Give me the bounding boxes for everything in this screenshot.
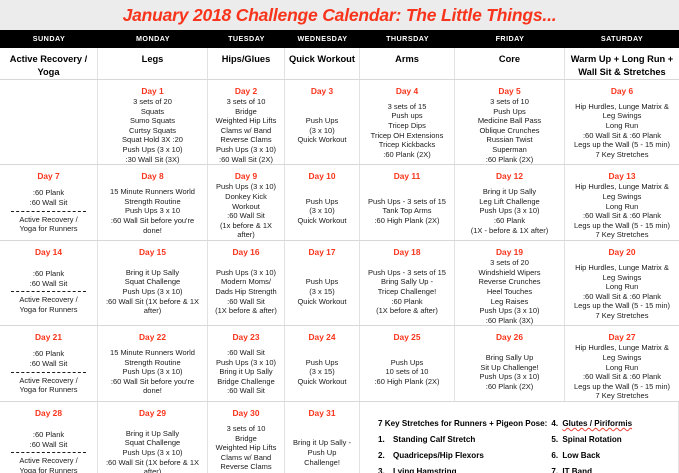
stretch-list-item: 5.Spinal Rotation	[551, 432, 678, 448]
week-row: Day 28:60 Plank:60 Wall SitActive Recove…	[0, 401, 679, 473]
detail-line: :60 Plank	[3, 349, 94, 359]
week-row: Day 21:60 Plank:60 Wall SitActive Recove…	[0, 325, 679, 401]
day-cell-day-22[interactable]: Day 2215 Minute Runners WorldStrength Ro…	[98, 326, 208, 401]
weekday-header-friday: FRIDAY	[455, 30, 565, 47]
detail-line: Push Ups	[288, 116, 356, 126]
focus-cell-tuesday: Hips/Glues	[208, 48, 285, 79]
detail-line: Push Ups (3 x 10)	[101, 145, 204, 155]
detail-line: Curtsy Squats	[101, 126, 204, 136]
day-cell-day-31[interactable]: Day 31Bring it Up Sally -Push UpChalleng…	[285, 402, 360, 473]
detail-line: Bring it Up Sally	[458, 187, 561, 197]
detail-line: Squats	[101, 107, 204, 117]
stretch-list-item: 3.Lying Hamstring	[378, 464, 547, 473]
day-cell-day-25[interactable]: Day 25Push Ups10 sets of 10:60 High Plan…	[360, 326, 455, 401]
detail-line: after)	[211, 230, 281, 240]
detail-line: Hip Hurdles, Lunge Matrix &	[568, 263, 676, 273]
day-number-label: Day 19	[496, 243, 523, 258]
day-number-label: Day 1	[141, 82, 163, 97]
weekday-header-thursday: THURSDAY	[360, 30, 455, 47]
calendar-page: January 2018 Challenge Calendar: The Lit…	[0, 0, 679, 473]
detail-line: Clams w/ Band	[211, 453, 281, 463]
detail-line: (3 x 15)	[288, 367, 356, 377]
detail-line: Squat Hold 3X :20	[101, 135, 204, 145]
key-stretches-panel: 7 Key Stretches for Runners + Pigeon Pos…	[360, 402, 679, 473]
day-detail-text: :60 Plank:60 Wall Sit	[3, 188, 94, 207]
day-number-label: Day 12	[496, 167, 523, 182]
day-detail-group: :60 Plank:60 Wall SitActive Recovery /Yo…	[3, 349, 94, 394]
day-number-label: Day 3	[311, 82, 333, 97]
dashed-divider	[11, 372, 86, 373]
detail-line: (1X before & after)	[211, 306, 281, 316]
day-cell-day-1[interactable]: Day 13 sets of 20SquatsSumo SquatsCurtsy…	[98, 80, 208, 164]
detail-line: Push Ups (3 x 10)	[101, 287, 204, 297]
focus-label: Quick Workout	[289, 50, 355, 66]
detail-line: 7 Key Stretches	[568, 150, 676, 160]
detail-line: Bring it Up Sally -	[288, 438, 356, 448]
day-cell-day-3[interactable]: Day 3Push Ups(3 x 10)Quick Workout	[285, 80, 360, 164]
stretch-item-number: 2.	[378, 448, 393, 464]
stretches-heading: 7 Key Stretches for Runners + Pigeon Pos…	[378, 416, 547, 432]
day-detail-text: Bring it Up SallySquat ChallengePush Ups…	[101, 429, 204, 473]
day-cell-day-7[interactable]: Day 7:60 Plank:60 Wall SitActive Recover…	[0, 165, 98, 240]
focus-label: Legs	[142, 50, 164, 66]
focus-label: Active Recovery / Yoga	[3, 50, 94, 78]
detail-line: :60 Plank (2X)	[363, 150, 451, 160]
stretch-item-label: IT Band	[562, 464, 592, 473]
focus-label: Core	[499, 50, 520, 66]
day-detail-text: Push Ups(3 x 10)Quick Workout	[288, 116, 356, 145]
detail-line: Russian Twist	[458, 135, 561, 145]
detail-line: Legs up the Wall (5 - 15 min)	[568, 221, 676, 231]
detail-line: Tricep OH Extensions	[363, 131, 451, 141]
detail-line: Push Ups (3 x 10)	[101, 448, 204, 458]
detail-line: Tricep Challenge!	[363, 287, 451, 297]
stretch-item-number: 5.	[551, 432, 562, 448]
detail-line: Push Ups (3 x 10)	[458, 206, 561, 216]
detail-line: Push Ups - 3 sets of 15	[363, 268, 451, 278]
day-detail-text: Push Ups(3 x 15)Quick Workout	[288, 277, 356, 306]
day-cell-empty[interactable]	[0, 80, 98, 164]
detail-line: :30 Wall Sit (3X)	[101, 155, 204, 165]
day-cell-day-4[interactable]: Day 43 sets of 15Push upsTricep DipsTric…	[360, 80, 455, 164]
detail-line: Long Run	[568, 282, 676, 292]
detail-line: Legs up the Wall (5 - 15 min)	[568, 140, 676, 150]
stretch-list-item: 2.Quadriceps/Hip Flexors	[378, 448, 547, 464]
day-number-label: Day 5	[498, 82, 520, 97]
detail-line: Push Ups 3 x 10	[101, 206, 204, 216]
day-detail-group: :60 Plank:60 Wall SitActive Recovery /Yo…	[3, 188, 94, 233]
detail-line: :60 Plank	[3, 188, 94, 198]
day-detail-text: Bring it Up SallySquat ChallengePush Ups…	[101, 268, 204, 316]
detail-line: Push Ups	[288, 358, 356, 368]
day-cell-day-10[interactable]: Day 10Push Ups(3 x 10)Quick Workout	[285, 165, 360, 240]
detail-line: Leg Swings	[568, 192, 676, 202]
day-cell-day-20[interactable]: Day 20Hip Hurdles, Lunge Matrix &Leg Swi…	[565, 241, 679, 325]
day-detail-text: Push Ups - 3 sets of 15Tank Top Arms:60 …	[363, 197, 451, 226]
detail-line: Modern Moms/	[211, 277, 281, 287]
detail-line: Dads Hip Strength	[211, 287, 281, 297]
day-detail-text: Active Recovery /Yoga for Runners	[3, 376, 94, 395]
detail-line: Yoga for Runners	[3, 305, 94, 315]
detail-line: :60 Wall Sit	[211, 348, 281, 358]
detail-line: Workout	[211, 202, 281, 212]
detail-line: Quick Workout	[288, 377, 356, 387]
day-cell-day-13[interactable]: Day 13Hip Hurdles, Lunge Matrix &Leg Swi…	[565, 165, 679, 240]
detail-line: Yoga for Runners	[3, 224, 94, 234]
dashed-divider	[11, 291, 86, 292]
detail-line: 3 sets of 15	[363, 102, 451, 112]
detail-line: :60 Wall Sit	[211, 386, 281, 396]
detail-line: :60 Plank	[458, 216, 561, 226]
stretch-item-label: Quadriceps/Hip Flexors	[393, 448, 484, 464]
detail-line: Clams w/ Band	[211, 126, 281, 136]
detail-line: :60 Wall Sit & :60 Plank	[568, 372, 676, 382]
focus-cell-wednesday: Quick Workout	[285, 48, 360, 79]
calendar-grid: Active Recovery / YogaLegsHips/GluesQuic…	[0, 47, 679, 473]
detail-line: :60 Wall Sit (2X)	[211, 155, 281, 165]
detail-line: Active Recovery /	[3, 376, 94, 386]
detail-line: :60 Plank	[3, 430, 94, 440]
day-number-label: Day 31	[308, 404, 335, 419]
detail-line: Bring it Up Sally	[211, 367, 281, 377]
detail-line: 15 Minute Runners World	[101, 348, 204, 358]
focus-cell-monday: Legs	[98, 48, 208, 79]
day-cell-day-17[interactable]: Day 17Push Ups(3 x 15)Quick Workout	[285, 241, 360, 325]
detail-line: 7 Key Stretches	[568, 391, 676, 401]
stretches-column-left: 7 Key Stretches for Runners + Pigeon Pos…	[360, 416, 547, 473]
focus-label: Warm Up + Long Run + Wall Sit & Stretche…	[568, 50, 676, 78]
detail-line: :60 Wall Sit	[3, 198, 94, 208]
day-detail-text: Push Ups (3 x 10)Donkey KickWorkout:60 W…	[211, 182, 281, 240]
stretch-item-label: Glutes / Piriformis	[562, 416, 632, 432]
day-detail-text: Hip Hurdles, Lunge Matrix &Leg SwingsLon…	[568, 343, 676, 401]
detail-line: :60 Wall Sit	[3, 440, 94, 450]
day-detail-text: 3 sets of 20SquatsSumo SquatsCurtsy Squa…	[101, 97, 204, 164]
detail-line: Quick Workout	[288, 297, 356, 307]
day-detail-text: Hip Hurdles, Lunge Matrix &Leg SwingsLon…	[568, 102, 676, 160]
day-cell-day-18[interactable]: Day 18Push Ups - 3 sets of 15Bring Sally…	[360, 241, 455, 325]
detail-line: :60 Plank (2X)	[458, 382, 561, 392]
detail-line: 7 Key Stretches	[568, 230, 676, 240]
detail-line: :60 Wall Sit & :60 Plank	[568, 211, 676, 221]
day-detail-text: 3 sets of 10Push UpsMedicine Ball PassOb…	[458, 97, 561, 164]
day-number-label: Day 18	[393, 243, 420, 258]
detail-line: :60 Wall Sit	[211, 211, 281, 221]
day-number-label: Day 27	[608, 328, 635, 343]
stretches-column-right: 4.Glutes / Piriformis5.Spinal Rotation6.…	[547, 416, 678, 473]
detail-line: Leg Raises	[458, 297, 561, 307]
day-detail-text: Push Ups - 3 sets of 15Bring Sally Up -T…	[363, 268, 451, 316]
detail-line: Reverse Clams	[211, 462, 281, 472]
day-detail-group: :60 Plank:60 Wall SitActive Recovery /Yo…	[3, 430, 94, 473]
day-cell-day-27[interactable]: Day 27Hip Hurdles, Lunge Matrix &Leg Swi…	[565, 326, 679, 401]
stretch-list-item: 4.Glutes / Piriformis	[551, 416, 678, 432]
day-cell-day-14[interactable]: Day 14:60 Plank:60 Wall SitActive Recove…	[0, 241, 98, 325]
day-detail-text: 3 sets of 10BridgeWeighted Hip LiftsClam…	[211, 97, 281, 164]
detail-line: (3 x 15)	[288, 287, 356, 297]
detail-line: Push Ups (3 x 10)	[211, 358, 281, 368]
detail-line: 7 Key Stretches	[568, 311, 676, 321]
detail-line: Superman	[458, 145, 561, 155]
stretch-item-number: 4.	[551, 416, 562, 432]
page-title: January 2018 Challenge Calendar: The Lit…	[123, 5, 557, 26]
day-cell-day-2[interactable]: Day 23 sets of 10BridgeWeighted Hip Lift…	[208, 80, 285, 164]
weekday-header-sunday: SUNDAY	[0, 30, 98, 47]
detail-line: :60 Plank	[3, 269, 94, 279]
day-number-label: Day 22	[139, 328, 166, 343]
detail-line: Push Ups	[288, 197, 356, 207]
detail-line: 3 sets of 10	[211, 424, 281, 434]
detail-line: :60 High Plank (2X)	[363, 377, 451, 387]
focus-row: Active Recovery / YogaLegsHips/GluesQuic…	[0, 48, 679, 79]
day-cell-day-5[interactable]: Day 53 sets of 10Push UpsMedicine Ball P…	[455, 80, 565, 164]
day-number-label: Day 10	[308, 167, 335, 182]
focus-cell-saturday: Warm Up + Long Run + Wall Sit & Stretche…	[565, 48, 679, 79]
detail-line: Donkey Kick	[211, 192, 281, 202]
detail-line: (3 x 10)	[288, 126, 356, 136]
day-number-label: Day 24	[308, 328, 335, 343]
day-detail-text: Push Ups (3 x 10)Modern Moms/Dads Hip St…	[211, 268, 281, 316]
weekday-header-wednesday: WEDNESDAY	[285, 30, 360, 47]
detail-line: Push Ups	[458, 107, 561, 117]
detail-line: Bridge	[211, 434, 281, 444]
detail-line: Yoga for Runners	[3, 385, 94, 395]
detail-line: Push Ups (3 x 10)	[211, 268, 281, 278]
detail-line: :60 Plank (2X)	[458, 155, 561, 165]
detail-line: Push ups	[363, 111, 451, 121]
day-number-label: Day 20	[608, 243, 635, 258]
day-number-label: Day 21	[35, 328, 62, 343]
stretch-item-label: Spinal Rotation	[562, 432, 621, 448]
detail-line: Quick Workout	[288, 216, 356, 226]
detail-line: Long Run	[568, 363, 676, 373]
detail-line: Legs up the Wall (5 - 15 min)	[568, 301, 676, 311]
week-row: Day 14:60 Plank:60 Wall SitActive Recove…	[0, 240, 679, 325]
day-number-label: Day 25	[393, 328, 420, 343]
detail-line: Bring it Up Sally	[101, 429, 204, 439]
day-number-label: Day 16	[232, 243, 259, 258]
detail-line: Medicine Ball Pass	[458, 116, 561, 126]
day-detail-text: Active Recovery /Yoga for Runners	[3, 456, 94, 473]
stretch-list-item: 6.Low Back	[551, 448, 678, 464]
detail-line: Push Ups	[288, 277, 356, 287]
detail-line: (1X before & after)	[363, 306, 451, 316]
detail-line: Active Recovery /	[3, 215, 94, 225]
day-number-label: Day 7	[37, 167, 59, 182]
detail-line: Push Ups (3 x 10)	[458, 372, 561, 382]
title-bar: January 2018 Challenge Calendar: The Lit…	[0, 0, 679, 30]
day-cell-day-21[interactable]: Day 21:60 Plank:60 Wall SitActive Recove…	[0, 326, 98, 401]
detail-line: Hip Hurdles, Lunge Matrix &	[568, 102, 676, 112]
detail-line: Push Ups (3 x 10)	[101, 367, 204, 377]
day-detail-text: Bring it Up Sally -Push UpChallenge!	[288, 438, 356, 467]
detail-line: Hip Hurdles, Lunge Matrix &	[568, 182, 676, 192]
day-detail-text: :60 Plank:60 Wall Sit	[3, 430, 94, 449]
day-detail-text: Push Ups(3 x 10)Quick Workout	[288, 197, 356, 226]
weekday-header-monday: MONDAY	[98, 30, 208, 47]
stretch-item-number: 3.	[378, 464, 393, 473]
day-detail-text: 3 sets of 10BridgeWeighted Hip LiftsClam…	[211, 424, 281, 473]
day-number-label: Day 29	[139, 404, 166, 419]
day-number-label: Day 30	[232, 404, 259, 419]
detail-line: Challenge!	[288, 458, 356, 468]
day-number-label: Day 14	[35, 243, 62, 258]
detail-line: Long Run	[568, 202, 676, 212]
detail-line: Sumo Squats	[101, 116, 204, 126]
focus-label: Hips/Glues	[222, 50, 271, 66]
day-detail-text: 15 Minute Runners WorldStrength RoutineP…	[101, 187, 204, 235]
detail-line: 10 sets of 10	[363, 367, 451, 377]
detail-line: :60 Wall Sit	[3, 359, 94, 369]
day-detail-text: Bring Sally UpSit Up Challenge!Push Ups …	[458, 353, 561, 391]
detail-line: Reverse Clams	[211, 135, 281, 145]
detail-line: Sit Up Challenge!	[458, 363, 561, 373]
day-cell-day-19[interactable]: Day 193 sets of 20Windshield WipersRever…	[455, 241, 565, 325]
day-detail-text: Push Ups10 sets of 10:60 High Plank (2X)	[363, 358, 451, 387]
dashed-divider	[11, 211, 86, 212]
detail-line: :60 Wall Sit before you're done!	[101, 377, 204, 396]
day-number-label: Day 28	[35, 404, 62, 419]
stretch-item-number: 7.	[551, 464, 562, 473]
day-detail-text: Active Recovery /Yoga for Runners	[3, 215, 94, 234]
detail-line: (1X - before & 1X after)	[458, 226, 561, 236]
detail-line: Leg Swings	[568, 111, 676, 121]
detail-line: :60 Wall Sit (1X before & 1X after)	[101, 297, 204, 316]
detail-line: Heel Touches	[458, 287, 561, 297]
detail-line: Long Run	[568, 121, 676, 131]
day-cell-day-15[interactable]: Day 15Bring it Up SallySquat ChallengePu…	[98, 241, 208, 325]
weekday-header-row: SUNDAYMONDAYTUESDAYWEDNESDAYTHURSDAYFRID…	[0, 30, 679, 47]
stretch-item-number: 6.	[551, 448, 562, 464]
detail-line: Push Ups (3 x 10)	[211, 182, 281, 192]
detail-line: :60 Plank (3X)	[458, 316, 561, 326]
detail-line: (3 x 10)	[288, 206, 356, 216]
day-detail-text: Push Ups(3 x 15)Quick Workout	[288, 358, 356, 387]
detail-line: Tank Top Arms	[363, 206, 451, 216]
detail-line: Push Up	[288, 448, 356, 458]
detail-line: Leg Lift Challenge	[458, 197, 561, 207]
detail-line: Legs up the Wall (5 - 15 min)	[568, 382, 676, 392]
day-number-label: Day 15	[139, 243, 166, 258]
day-cell-day-12[interactable]: Day 12Bring it Up SallyLeg Lift Challeng…	[455, 165, 565, 240]
detail-line: :60 Plank	[363, 297, 451, 307]
stretch-item-label: Lying Hamstring	[393, 464, 457, 473]
day-cell-day-28[interactable]: Day 28:60 Plank:60 Wall SitActive Recove…	[0, 402, 98, 473]
detail-line: :60 High Plank (2X)	[363, 216, 451, 226]
day-number-label: Day 2	[235, 82, 257, 97]
detail-line: 3 sets of 10	[211, 97, 281, 107]
detail-line: Quick Workout	[288, 135, 356, 145]
detail-line: Oblique Crunches	[458, 126, 561, 136]
day-detail-text: :60 Plank:60 Wall Sit	[3, 269, 94, 288]
day-cell-day-6[interactable]: Day 6Hip Hurdles, Lunge Matrix &Leg Swin…	[565, 80, 679, 164]
day-number-label: Day 23	[232, 328, 259, 343]
day-detail-text: Active Recovery /Yoga for Runners	[3, 295, 94, 314]
day-cell-day-26[interactable]: Day 26Bring Sally UpSit Up Challenge!Pus…	[455, 326, 565, 401]
detail-line: Weighted Hip Lifts	[211, 116, 281, 126]
detail-line: Weighted Hip Lifts	[211, 443, 281, 453]
detail-line: Push Ups (3 x 10)	[458, 306, 561, 316]
day-cell-day-9[interactable]: Day 9Push Ups (3 x 10)Donkey KickWorkout…	[208, 165, 285, 240]
day-cell-day-24[interactable]: Day 24Push Ups(3 x 15)Quick Workout	[285, 326, 360, 401]
day-detail-text: 3 sets of 20Windshield WipersReverse Cru…	[458, 258, 561, 325]
stretch-list-item: 7.IT Band	[551, 464, 678, 473]
day-number-label: Day 6	[611, 82, 633, 97]
day-number-label: Day 17	[308, 243, 335, 258]
detail-line: Yoga for Runners	[3, 466, 94, 473]
detail-line: Bridge Challenge	[211, 377, 281, 387]
day-detail-text: :60 Wall SitPush Ups (3 x 10)Bring it Up…	[211, 348, 281, 396]
detail-line: Push Ups	[363, 358, 451, 368]
detail-line: Hip Hurdles, Lunge Matrix &	[568, 343, 676, 353]
day-cell-day-23[interactable]: Day 23:60 Wall SitPush Ups (3 x 10)Bring…	[208, 326, 285, 401]
day-number-label: Day 13	[608, 167, 635, 182]
dashed-divider	[11, 452, 86, 453]
stretch-list-item: 1.Standing Calf Stretch	[378, 432, 547, 448]
weekday-header-saturday: SATURDAY	[565, 30, 679, 47]
detail-line: Bring Sally Up -	[363, 277, 451, 287]
day-number-label: Day 4	[396, 82, 418, 97]
day-detail-text: 3 sets of 15Push upsTricep DipsTricep OH…	[363, 102, 451, 160]
day-cell-day-11[interactable]: Day 11Push Ups - 3 sets of 15Tank Top Ar…	[360, 165, 455, 240]
focus-label: Arms	[395, 50, 419, 66]
detail-line: :60 Wall Sit before you're done!	[101, 216, 204, 235]
detail-line: Strength Routine	[101, 197, 204, 207]
day-detail-text: 15 Minute Runners WorldStrength RoutineP…	[101, 348, 204, 396]
focus-cell-friday: Core	[455, 48, 565, 79]
day-number-label: Day 9	[235, 167, 257, 182]
day-detail-text: :60 Plank:60 Wall Sit	[3, 349, 94, 368]
detail-line: Bridge	[211, 107, 281, 117]
detail-line: Bring it Up Sally	[101, 268, 204, 278]
detail-line: 3 sets of 20	[101, 97, 204, 107]
focus-cell-sunday: Active Recovery / Yoga	[0, 48, 98, 79]
detail-line: Bring Sally Up	[458, 353, 561, 363]
detail-line: Strength Routine	[101, 358, 204, 368]
detail-line: Reverse Crunches	[458, 277, 561, 287]
detail-line: (1x before & 1X	[211, 221, 281, 231]
stretch-item-label: Low Back	[562, 448, 600, 464]
detail-line: Active Recovery /	[3, 295, 94, 305]
detail-line: 3 sets of 10	[458, 97, 561, 107]
detail-line: 3 sets of 20	[458, 258, 561, 268]
detail-line: :60 Wall Sit (1X before & 1X after)	[101, 458, 204, 473]
detail-line: Tricep Kickbacks	[363, 140, 451, 150]
detail-line: :60 Wall Sit	[211, 297, 281, 307]
detail-line: :60 Wall Sit & :60 Plank	[568, 131, 676, 141]
weekday-header-tuesday: TUESDAY	[208, 30, 285, 47]
day-number-label: Day 11	[394, 167, 421, 182]
detail-line: Squat Challenge	[101, 438, 204, 448]
stretch-item-number: 1.	[378, 432, 393, 448]
day-detail-text: Bring it Up SallyLeg Lift ChallengePush …	[458, 187, 561, 235]
detail-line: Push Ups - 3 sets of 15	[363, 197, 451, 207]
week-row: Day 13 sets of 20SquatsSumo SquatsCurtsy…	[0, 79, 679, 164]
detail-line: Leg Swings	[568, 273, 676, 283]
day-cell-day-16[interactable]: Day 16Push Ups (3 x 10)Modern Moms/Dads …	[208, 241, 285, 325]
day-detail-text: Hip Hurdles, Lunge Matrix &Leg SwingsLon…	[568, 182, 676, 240]
day-cell-day-29[interactable]: Day 29Bring it Up SallySquat ChallengePu…	[98, 402, 208, 473]
day-cell-day-8[interactable]: Day 815 Minute Runners WorldStrength Rou…	[98, 165, 208, 240]
day-number-label: Day 8	[141, 167, 163, 182]
day-cell-day-30[interactable]: Day 303 sets of 10BridgeWeighted Hip Lif…	[208, 402, 285, 473]
detail-line: Active Recovery /	[3, 456, 94, 466]
stretch-item-label: Standing Calf Stretch	[393, 432, 475, 448]
detail-line: Windshield Wipers	[458, 268, 561, 278]
day-detail-text: Hip Hurdles, Lunge Matrix &Leg SwingsLon…	[568, 263, 676, 321]
focus-cell-thursday: Arms	[360, 48, 455, 79]
detail-line: :60 Wall Sit	[3, 279, 94, 289]
